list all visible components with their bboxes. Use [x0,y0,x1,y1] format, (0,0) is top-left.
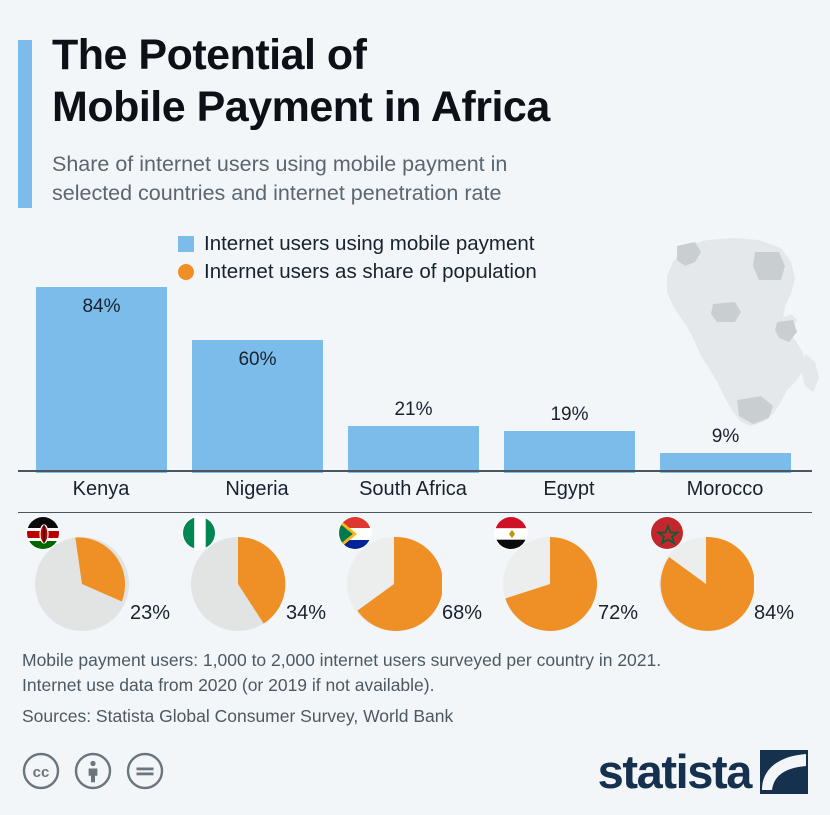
statista-wordmark: statista [598,748,751,795]
footnotes: Mobile payment users: 1,000 to 2,000 int… [22,648,812,729]
attribution-icon[interactable] [74,752,112,790]
country-label-rule [18,512,812,513]
pie-value-south-africa: 68% [442,602,482,625]
legend-label-mobile-payment: Internet users using mobile payment [204,232,534,256]
bar-value-egypt: 19% [504,404,635,426]
pie-value-egypt: 72% [598,602,638,625]
legend-item-mobile-payment: Internet users using mobile payment [178,230,537,258]
footnote-line-2: Internet use data from 2020 (or 2019 if … [22,673,812,698]
bar-value-south-africa: 21% [348,399,479,421]
bar-column-kenya: 84% [36,278,167,473]
title-line-2: Mobile Payment in Africa [52,81,752,133]
country-label-row: Kenya Nigeria South Africa Egypt Morocco [0,478,830,508]
pie-chart-egypt [502,536,598,632]
country-label-kenya: Kenya [21,478,181,501]
bar-value-kenya: 84% [36,296,167,318]
subtitle-line-1: Share of internet users using mobile pay… [52,152,507,176]
bar-column-nigeria: 60% [192,278,323,473]
bar-south-africa [348,426,479,473]
bar-column-egypt: 19% [504,278,635,473]
creative-commons-icon[interactable]: cc [22,752,60,790]
license-icons: cc [22,752,164,790]
statista-mark-icon [760,750,808,794]
pie-value-nigeria: 34% [286,602,326,625]
country-label-nigeria: Nigeria [177,478,337,501]
page-title: The Potential of Mobile Payment in Afric… [52,29,752,133]
statista-logo[interactable]: statista [598,748,808,795]
page-subtitle: Share of internet users using mobile pay… [52,150,692,208]
title-line-1: The Potential of [52,31,367,79]
subtitle-line-2: selected countries and internet penetrat… [52,179,692,208]
footnote-sources: Sources: Statista Global Consumer Survey… [22,704,812,729]
pie-value-morocco: 84% [754,602,794,625]
legend-square-icon [178,236,194,252]
title-accent-bar [18,40,32,208]
footnote-line-1: Mobile payment users: 1,000 to 2,000 int… [22,648,812,673]
bar-value-nigeria: 60% [192,349,323,371]
chart-axis-line [18,470,812,472]
bar-column-south-africa: 21% [348,278,479,473]
egypt-highlight [753,252,785,280]
infographic-canvas: The Potential of Mobile Payment in Afric… [0,0,830,815]
bar-egypt [504,431,635,473]
pie-value-kenya: 23% [130,602,170,625]
pie-chart-nigeria [190,536,286,632]
pie-chart-morocco [658,536,754,632]
bar-chart: 84% 60% 21% 19% 9% [0,278,830,473]
bar-column-morocco: 9% [660,278,791,473]
country-label-morocco: Morocco [645,478,805,501]
no-derivatives-icon[interactable] [126,752,164,790]
pie-chart-kenya [34,536,130,632]
country-label-egypt: Egypt [489,478,649,501]
pie-chart-row: 23% 34% [0,516,830,644]
country-label-south-africa: South Africa [333,478,493,501]
bar-value-morocco: 9% [660,426,791,448]
svg-text:cc: cc [33,764,50,781]
morocco-highlight [677,242,701,266]
pie-chart-south-africa [346,536,442,632]
